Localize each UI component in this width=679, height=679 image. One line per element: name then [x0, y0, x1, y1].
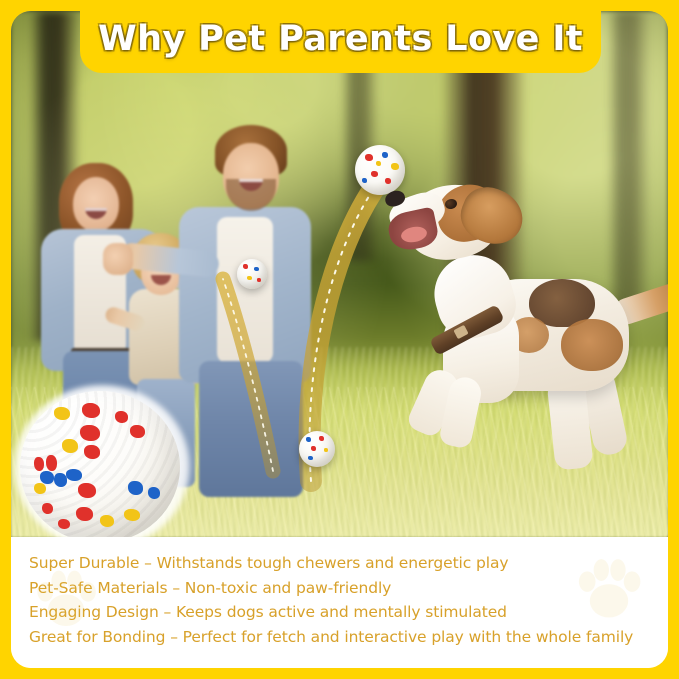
dog-figure [383, 151, 668, 481]
feature-item: Great for Bonding – Perfect for fetch an… [29, 625, 650, 650]
flying-ball [299, 431, 335, 467]
title-banner: Why Pet Parents Love It [80, 11, 601, 73]
page-title: Why Pet Parents Love It [98, 19, 583, 59]
feature-item: Super Durable – Withstands tough chewers… [29, 551, 650, 576]
product-ball [20, 391, 180, 537]
feature-item: Pet-Safe Materials – Non-toxic and paw-f… [29, 576, 650, 601]
poster-card: Why Pet Parents Love It [11, 11, 668, 668]
flying-ball [237, 259, 267, 289]
feature-list: Super Durable – Withstands tough chewers… [11, 537, 668, 668]
poster: Why Pet Parents Love It [0, 0, 679, 679]
product-ball-inset [14, 385, 190, 537]
feature-item: Engaging Design – Keeps dogs active and … [29, 600, 650, 625]
hero-photo [11, 11, 668, 537]
